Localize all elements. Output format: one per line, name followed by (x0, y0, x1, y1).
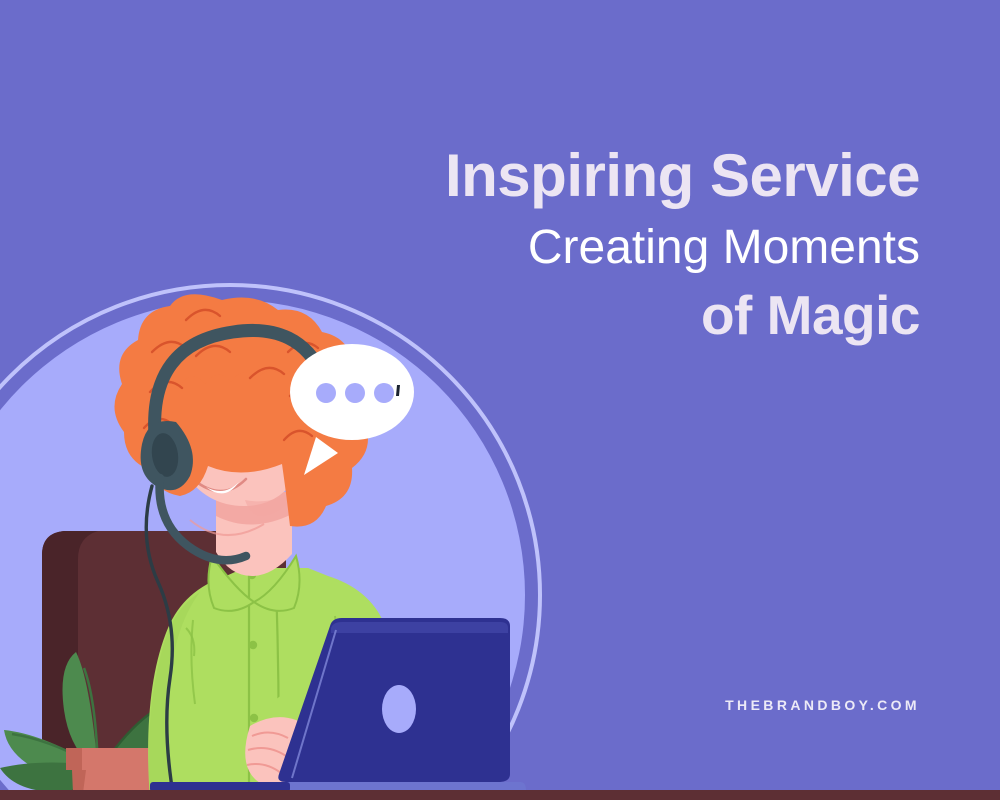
headline-line-1: Inspiring Service (445, 146, 920, 206)
poster-canvas: Inspiring Service Creating Moments of Ma… (0, 0, 1000, 800)
illustration-artwork (0, 0, 1000, 800)
bubble-dot-3 (374, 383, 394, 403)
desk-edge (0, 790, 1000, 800)
bubble-dot-2 (345, 383, 365, 403)
headline-line-3: of Magic (701, 288, 920, 343)
brand-watermark: THEBRANDBOY.COM (725, 697, 920, 713)
bubble-dot-1 (316, 383, 336, 403)
headline-line-2: Creating Moments (528, 224, 920, 272)
laptop-logo (382, 685, 416, 733)
